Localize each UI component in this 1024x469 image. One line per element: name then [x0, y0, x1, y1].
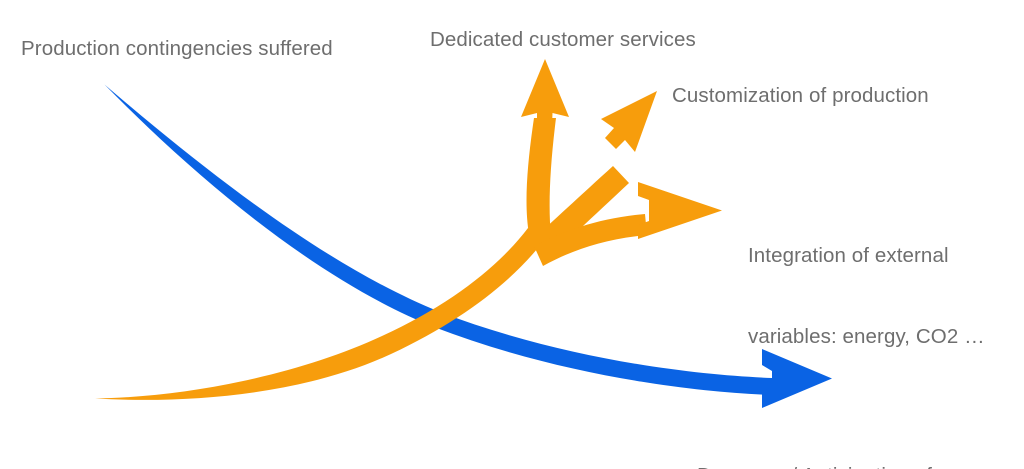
orange-branch-diagonal-arrowhead [601, 91, 657, 152]
orange-arrow-group [95, 59, 722, 400]
label-integration-line-2: variables: energy, CO2 … [748, 323, 985, 350]
diagram-canvas: Production contingencies suffered Dedica… [0, 0, 1024, 469]
label-integration-of-external-variables: Integration of external variables: energ… [748, 188, 985, 404]
blue-arrow-group [105, 85, 833, 409]
label-decrease-anticipation-of-production-contingencies: Decrease / Anticipation of production co… [697, 408, 932, 469]
orange-branch-vertical-arrowhead [521, 59, 569, 126]
orange-branch-horizontal-arrowhead [638, 182, 722, 239]
orange-branch-vertical-stem [527, 118, 556, 236]
blue-arrow-body [105, 85, 773, 396]
label-production-contingencies-suffered: Production contingencies suffered [21, 35, 333, 62]
label-integration-line-1: Integration of external [748, 242, 985, 269]
label-decrease-line-1: Decrease / Anticipation of [697, 462, 932, 469]
label-standardization-of-production: Standardization of production [21, 412, 165, 469]
label-customization-of-production: Customization of production [672, 82, 929, 109]
orange-branch-horizontal-stem [534, 214, 647, 266]
label-dedicated-customer-services: Dedicated customer services [430, 26, 696, 53]
